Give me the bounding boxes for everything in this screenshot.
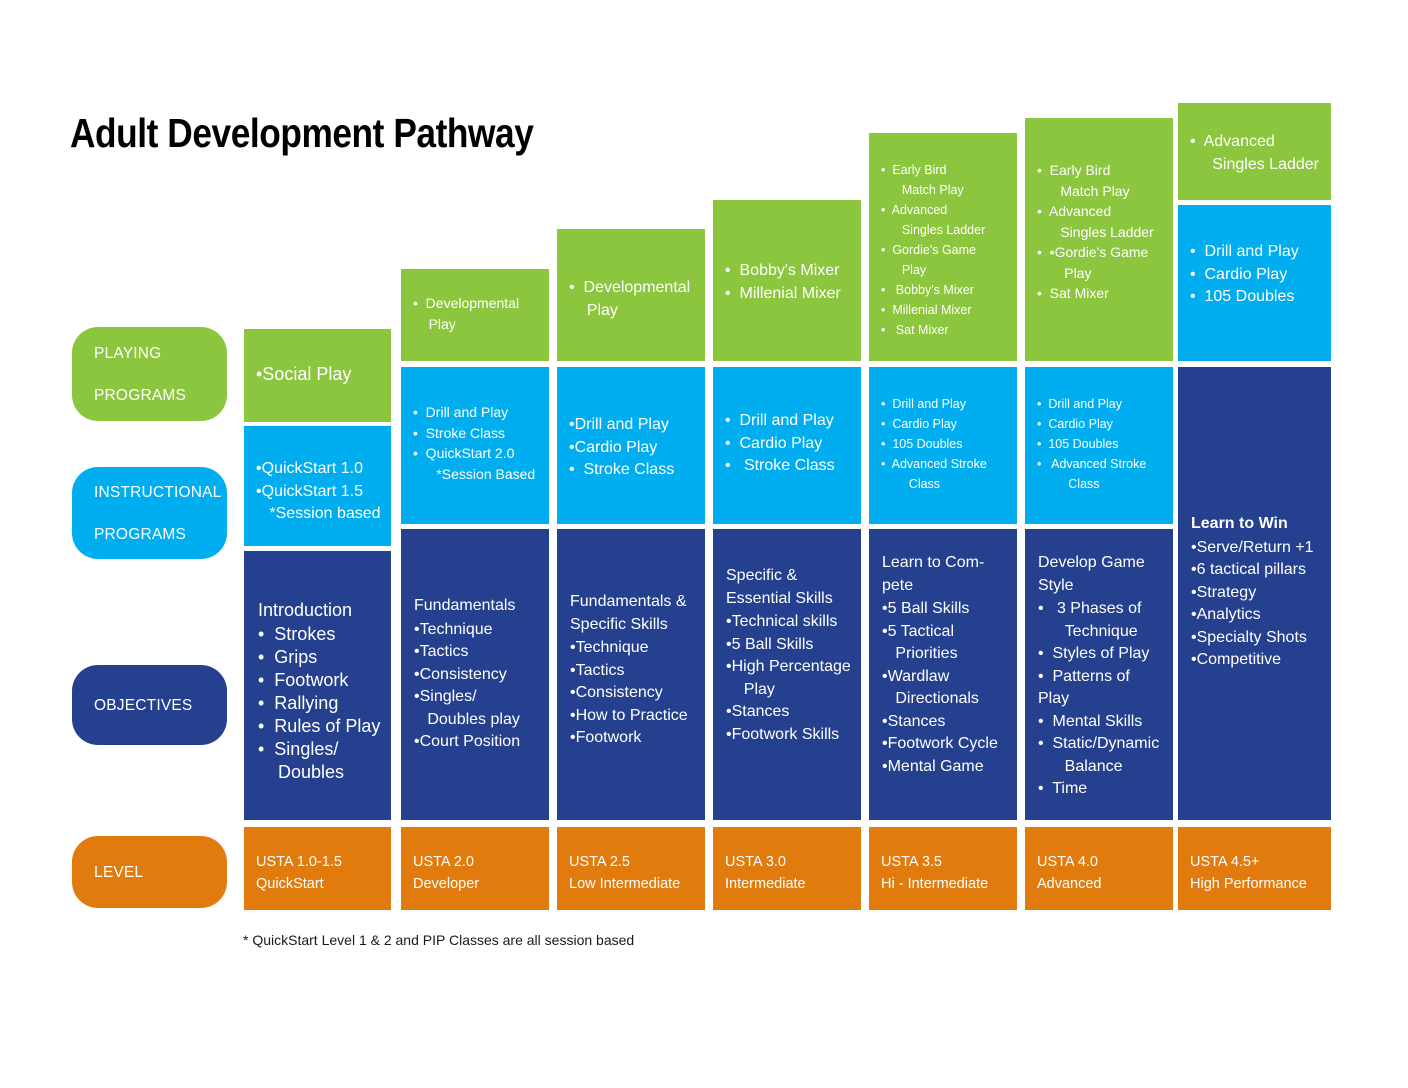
list-item: • Advanced — [1037, 201, 1165, 222]
list-item: • Advanced Stroke — [881, 454, 1009, 474]
row-label-line2: PROGRAMS — [94, 385, 186, 406]
col-1-objectives-panel: Introduction • Strokes • Grips • Footwor… — [244, 551, 391, 820]
row-label-instructional-programs: INSTRUCTIONAL PROGRAMS — [72, 467, 227, 559]
list-item: • Cardio Play — [881, 414, 1009, 434]
list-item: •High Percentage — [726, 656, 853, 679]
list-item: • Stroke Class — [569, 459, 697, 482]
row-label-line2: PROGRAMS — [94, 524, 221, 545]
list-item: Play — [1037, 263, 1165, 284]
list-item: • Sat Mixer — [881, 320, 1009, 340]
col-3-playing-panel: • Developmental Play — [557, 229, 705, 361]
list-item: • Advanced — [1190, 131, 1323, 154]
list-item: •5 Ball Skills — [882, 598, 1009, 621]
list-item: •Serve/Return +1 — [1191, 537, 1323, 560]
list-item: •Consistency — [570, 682, 697, 705]
col-5-objectives-panel: Learn to Com- pete •5 Ball Skills •5 Tac… — [869, 529, 1017, 820]
col-4-objectives-panel: Specific & Essential Skills •Technical s… — [713, 529, 861, 820]
col-4-objectives-heading: Specific & Essential Skills — [726, 565, 853, 610]
list-item: • Stroke Class — [413, 423, 541, 444]
list-item: • 105 Doubles — [1037, 434, 1165, 454]
col-7-playing-panel: • Advanced Singles Ladder — [1178, 103, 1331, 200]
level-line1: USTA 3.0 — [725, 851, 853, 873]
page-title: Adult Development Pathway — [70, 110, 533, 157]
list-item: •Tactics — [414, 641, 541, 664]
list-item: • Drill and Play — [1190, 241, 1323, 264]
col-6-playing-list: • Early Bird Match Play • Advanced Singl… — [1037, 160, 1165, 304]
col-6-objectives-list: • 3 Phases of Technique • Styles of Play… — [1038, 598, 1165, 801]
col-4-objectives-list: •Technical skills •5 Ball Skills •High P… — [726, 611, 853, 746]
col-4-playing-list: • Bobby's Mixer • Millenial Mixer — [725, 260, 853, 305]
list-item: Directionals — [882, 688, 1009, 711]
list-item: • Drill and Play — [413, 402, 541, 423]
row-label-objectives: OBJECTIVES — [72, 665, 227, 745]
list-item: •5 Ball Skills — [726, 634, 853, 657]
list-item: • Footwork — [258, 669, 383, 692]
col-6-instructional-panel: • Drill and Play • Cardio Play • 105 Dou… — [1025, 367, 1173, 524]
list-item: • Grips — [258, 646, 383, 669]
level-line1: USTA 1.0-1.5 — [256, 851, 383, 873]
level-line2: Low Intermediate — [569, 873, 697, 895]
list-item: Doubles — [258, 761, 383, 784]
list-item: • Cardio Play — [1190, 264, 1323, 287]
col-6-playing-panel: • Early Bird Match Play • Advanced Singl… — [1025, 118, 1173, 361]
list-item: • Styles of Play — [1038, 643, 1165, 666]
list-item: •Technique — [570, 637, 697, 660]
list-item: Singles Ladder — [881, 220, 1009, 240]
list-item: •Competitive — [1191, 649, 1323, 672]
col-6-level-panel: USTA 4.0 Advanced — [1025, 827, 1173, 910]
col-1-playing-panel: •Social Play — [244, 329, 391, 422]
col-2-objectives-panel: Fundamentals •Technique •Tactics •Consis… — [401, 529, 549, 820]
pathway-chart: Adult Development Pathway PLAYING PROGRA… — [0, 0, 1408, 1088]
list-item: • Time — [1038, 778, 1165, 801]
list-item: • Patterns of Play — [1038, 666, 1165, 711]
list-item: Singles Ladder — [1037, 222, 1165, 243]
list-item: • 3 Phases of — [1038, 598, 1165, 621]
col-2-instructional-panel: • Drill and Play • Stroke Class • QuickS… — [401, 367, 549, 524]
level-line2: Hi - Intermediate — [881, 873, 1009, 895]
list-item: Play — [413, 314, 541, 335]
list-item: •Footwork Cycle — [882, 733, 1009, 756]
list-item: • Millenial Mixer — [881, 300, 1009, 320]
list-item: •Stances — [726, 701, 853, 724]
level-line2: High Performance — [1190, 873, 1323, 895]
col-7-level-panel: USTA 4.5+ High Performance — [1178, 827, 1331, 910]
list-item: • Stroke Class — [725, 455, 853, 478]
list-item: • Sat Mixer — [1037, 283, 1165, 304]
col-4-instructional-panel: • Drill and Play • Cardio Play • Stroke … — [713, 367, 861, 524]
list-item: *Session Based — [413, 464, 541, 485]
list-item: • Drill and Play — [1037, 394, 1165, 414]
list-item: Play — [881, 260, 1009, 280]
col-1-objectives-heading: Introduction — [258, 599, 383, 622]
list-item: • Mental Skills — [1038, 711, 1165, 734]
col-7-instructional-panel: • Drill and Play • Cardio Play • 105 Dou… — [1178, 205, 1331, 361]
list-item: • Drill and Play — [725, 410, 853, 433]
list-item: • •Gordie's Game — [1037, 242, 1165, 263]
col-5-objectives-heading: Learn to Com- pete — [882, 552, 1009, 597]
col-7-playing-list: • Advanced Singles Ladder — [1190, 131, 1323, 176]
col-5-instructional-list: • Drill and Play • Cardio Play • 105 Dou… — [881, 394, 1009, 494]
list-item: • 105 Doubles — [881, 434, 1009, 454]
col-2-objectives-list: •Technique •Tactics •Consistency •Single… — [414, 619, 541, 754]
list-item: • Strokes — [258, 623, 383, 646]
list-item: •Consistency — [414, 664, 541, 687]
row-label-line1: PLAYING — [94, 343, 186, 364]
list-item: • Developmental — [413, 293, 541, 314]
list-item: • Millenial Mixer — [725, 283, 853, 306]
col-3-objectives-heading: Fundamentals & Specific Skills — [570, 591, 697, 636]
level-line1: USTA 2.0 — [413, 851, 541, 873]
list-item: •Footwork — [570, 727, 697, 750]
list-item: • Drill and Play — [881, 394, 1009, 414]
col-1-playing-list: •Social Play — [256, 363, 383, 386]
col-4-playing-panel: • Bobby's Mixer • Millenial Mixer — [713, 200, 861, 361]
col-3-objectives-list: •Technique •Tactics •Consistency •How to… — [570, 637, 697, 750]
col-1-instructional-panel: •QuickStart 1.0 •QuickStart 1.5 *Session… — [244, 426, 391, 546]
list-item: Play — [569, 300, 697, 323]
list-item: Priorities — [882, 643, 1009, 666]
list-item: •QuickStart 1.0 — [256, 458, 383, 481]
col-3-instructional-panel: •Drill and Play •Cardio Play • Stroke Cl… — [557, 367, 705, 524]
list-item: Match Play — [881, 180, 1009, 200]
list-item: Doubles play — [414, 709, 541, 732]
col-3-level-panel: USTA 2.5 Low Intermediate — [557, 827, 705, 910]
level-line1: USTA 4.0 — [1037, 851, 1165, 873]
list-item: •Mental Game — [882, 756, 1009, 779]
col-6-objectives-panel: Develop Game Style • 3 Phases of Techniq… — [1025, 529, 1173, 820]
list-item: • Early Bird — [1037, 160, 1165, 181]
col-3-playing-list: • Developmental Play — [569, 277, 697, 322]
list-item: • Early Bird — [881, 160, 1009, 180]
col-3-instructional-list: •Drill and Play •Cardio Play • Stroke Cl… — [569, 414, 697, 482]
col-1-level-panel: USTA 1.0-1.5 QuickStart — [244, 827, 391, 910]
col-7-instructional-list: • Drill and Play • Cardio Play • 105 Dou… — [1190, 241, 1323, 309]
list-item: •5 Tactical — [882, 621, 1009, 644]
list-item: •Social Play — [256, 363, 383, 386]
col-1-objectives-list: • Strokes • Grips • Footwork • Rallying … — [258, 623, 383, 784]
col-7-objectives-heading: Learn to Win — [1191, 513, 1323, 536]
row-label-playing-programs: PLAYING PROGRAMS — [72, 327, 227, 421]
row-label-line1: INSTRUCTIONAL — [94, 482, 221, 503]
col-2-level-panel: USTA 2.0 Developer — [401, 827, 549, 910]
list-item: •Court Position — [414, 731, 541, 754]
list-item: •Singles/ — [414, 686, 541, 709]
list-item: Technique — [1038, 621, 1165, 644]
list-item: •Specialty Shots — [1191, 627, 1323, 650]
list-item: Play — [726, 679, 853, 702]
list-item: •How to Practice — [570, 705, 697, 728]
list-item: • Singles/ — [258, 738, 383, 761]
list-item: • QuickStart 2.0 — [413, 443, 541, 464]
col-2-playing-list: • Developmental Play — [413, 293, 541, 334]
level-line2: Advanced — [1037, 873, 1165, 895]
list-item: • Bobby's Mixer — [725, 260, 853, 283]
list-item: •Tactics — [570, 660, 697, 683]
list-item: •Drill and Play — [569, 414, 697, 437]
list-item: Match Play — [1037, 181, 1165, 202]
level-line2: Developer — [413, 873, 541, 895]
list-item: *Session based — [256, 503, 383, 526]
row-label-level: LEVEL — [72, 836, 227, 908]
col-5-objectives-list: •5 Ball Skills •5 Tactical Priorities •W… — [882, 598, 1009, 778]
list-item: •Footwork Skills — [726, 724, 853, 747]
list-item: •Wardlaw — [882, 666, 1009, 689]
level-line1: USTA 2.5 — [569, 851, 697, 873]
list-item: Singles Ladder — [1190, 154, 1323, 177]
list-item: • Rules of Play — [258, 715, 383, 738]
col-2-playing-panel: • Developmental Play — [401, 269, 549, 361]
level-line1: USTA 3.5 — [881, 851, 1009, 873]
row-label-line1: OBJECTIVES — [94, 695, 192, 716]
list-item: • Developmental — [569, 277, 697, 300]
list-item: • Rallying — [258, 692, 383, 715]
list-item: • Gordie's Game — [881, 240, 1009, 260]
col-5-instructional-panel: • Drill and Play • Cardio Play • 105 Dou… — [869, 367, 1017, 524]
col-6-instructional-list: • Drill and Play • Cardio Play • 105 Dou… — [1037, 394, 1165, 494]
col-1-instructional-list: •QuickStart 1.0 •QuickStart 1.5 *Session… — [256, 458, 383, 526]
list-item: Class — [1037, 474, 1165, 494]
list-item: • Advanced Stroke — [1037, 454, 1165, 474]
col-7-objectives-list: •Serve/Return +1 •6 tactical pillars •St… — [1191, 537, 1323, 672]
list-item: • Advanced — [881, 200, 1009, 220]
level-line1: USTA 4.5+ — [1190, 851, 1323, 873]
col-7-objectives-panel: Learn to Win •Serve/Return +1 •6 tactica… — [1178, 367, 1331, 820]
list-item: •Analytics — [1191, 604, 1323, 627]
list-item: • Cardio Play — [725, 433, 853, 456]
list-item: •Stances — [882, 711, 1009, 734]
list-item: • Cardio Play — [1037, 414, 1165, 434]
list-item: • Bobby's Mixer — [881, 280, 1009, 300]
col-5-playing-list: • Early Bird Match Play • Advanced Singl… — [881, 160, 1009, 340]
col-2-objectives-heading: Fundamentals — [414, 595, 541, 618]
list-item: •Strategy — [1191, 582, 1323, 605]
list-item: •Technical skills — [726, 611, 853, 634]
list-item: •QuickStart 1.5 — [256, 481, 383, 504]
col-5-playing-panel: • Early Bird Match Play • Advanced Singl… — [869, 133, 1017, 361]
level-line2: Intermediate — [725, 873, 853, 895]
list-item: • Static/Dynamic — [1038, 733, 1165, 756]
footnote: * QuickStart Level 1 & 2 and PIP Classes… — [243, 932, 634, 948]
list-item: •Technique — [414, 619, 541, 642]
col-5-level-panel: USTA 3.5 Hi - Intermediate — [869, 827, 1017, 910]
level-line2: QuickStart — [256, 873, 383, 895]
col-4-instructional-list: • Drill and Play • Cardio Play • Stroke … — [725, 410, 853, 478]
list-item: Class — [881, 474, 1009, 494]
col-3-objectives-panel: Fundamentals & Specific Skills •Techniqu… — [557, 529, 705, 820]
list-item: Balance — [1038, 756, 1165, 779]
list-item: • 105 Doubles — [1190, 286, 1323, 309]
list-item: •Cardio Play — [569, 437, 697, 460]
row-label-line1: LEVEL — [94, 862, 143, 883]
list-item: •6 tactical pillars — [1191, 559, 1323, 582]
col-6-objectives-heading: Develop Game Style — [1038, 552, 1165, 597]
col-4-level-panel: USTA 3.0 Intermediate — [713, 827, 861, 910]
col-2-instructional-list: • Drill and Play • Stroke Class • QuickS… — [413, 402, 541, 484]
